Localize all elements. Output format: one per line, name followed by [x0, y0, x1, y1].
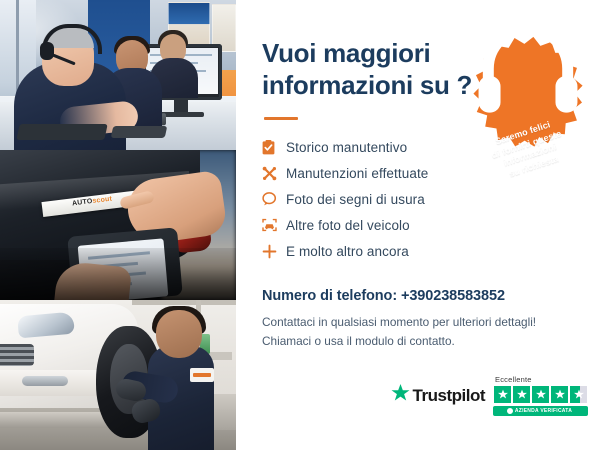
feature-label: Altre foto del veicolo — [286, 218, 410, 233]
contact-subtext-line-2: Chiamaci o usa il modulo di contatto. — [262, 332, 600, 350]
feature-label: E molto altro ancora — [286, 244, 409, 259]
accent-divider — [264, 117, 298, 120]
verified-label: AZIENDA VERIFICATA — [515, 408, 572, 414]
contact-subtext-line-1: Contattaci in qualsiasi momento per ulte… — [262, 313, 600, 331]
phone-number[interactable]: Numero di telefono: +390238583852 — [262, 288, 600, 304]
feature-label: Foto dei segni di usura — [286, 192, 425, 207]
feature-label: Storico manutentivo — [286, 140, 407, 155]
content-panel: Vuoi maggiori informazioni su ? Storico … — [236, 0, 600, 450]
call-center-agent-photo — [0, 0, 236, 150]
speech-bubble-icon — [262, 192, 286, 206]
clipboard-check-icon — [262, 140, 286, 155]
feature-item-molto-altro: E molto altro ancora — [262, 238, 600, 264]
service-info-banner: AUTOscout Vuoi maggiori — [0, 0, 600, 450]
rating-label: Eccellente — [493, 375, 532, 384]
headline-line-2: informazioni su ? — [262, 70, 482, 102]
vehicle-inspection-photo: AUTOscout — [0, 150, 236, 300]
feature-item-foto-segni-usura: Foto dei segni di usura — [262, 186, 600, 212]
verified-badge: AZIENDA VERIFICATA — [493, 406, 588, 416]
car-frame-icon — [262, 218, 286, 232]
trustpilot-score: Eccellente — [493, 375, 588, 416]
mechanic-wheel-photo — [0, 300, 236, 450]
star-icon — [513, 386, 530, 403]
star-icon — [551, 386, 568, 403]
star-icon — [494, 386, 511, 403]
trustpilot-rating[interactable]: Trustpilot Eccellente — [391, 375, 588, 416]
star-icon — [532, 386, 549, 403]
headline-line-1: Vuoi maggiori — [262, 38, 430, 68]
star-icon-partial — [570, 386, 587, 403]
contact-subtext: Contattaci in qualsiasi momento per ulte… — [262, 313, 600, 350]
plus-icon — [262, 244, 286, 259]
star-rating — [494, 386, 587, 403]
verified-check-icon — [507, 408, 513, 414]
trustpilot-name: Trustpilot — [413, 386, 485, 406]
page-title: Vuoi maggiori informazioni su ? — [262, 38, 482, 101]
trustpilot-logo: Trustpilot — [391, 384, 485, 407]
feature-list: Storico manutentivo Manutenzi — [262, 134, 600, 264]
photo-column: AUTOscout — [0, 0, 236, 450]
trustpilot-star-icon — [391, 384, 410, 407]
feature-item-manutenzioni-effettuate: Manutenzioni effettuate — [262, 160, 600, 186]
feature-item-altre-foto-veicolo: Altre foto del veicolo — [262, 212, 600, 238]
tools-cross-icon — [262, 166, 286, 181]
feature-label: Manutenzioni effettuate — [286, 166, 428, 181]
